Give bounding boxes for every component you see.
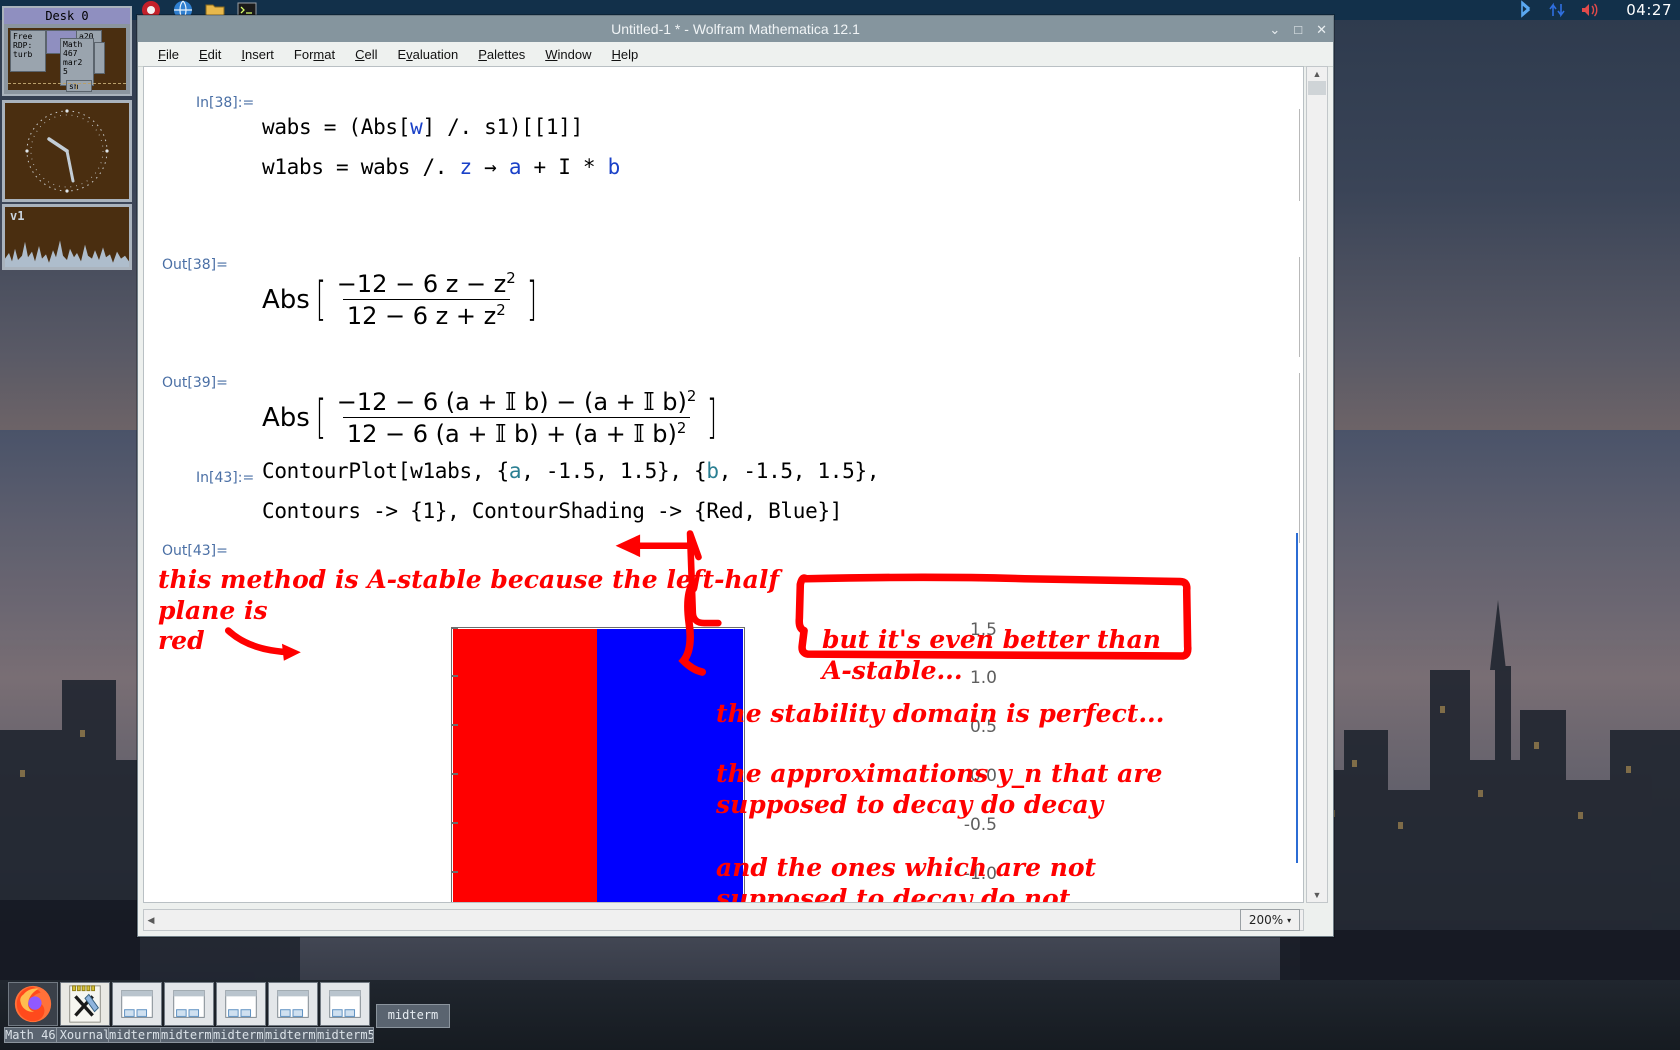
taskbar-item-midterm5[interactable]: midterm5 [316, 982, 374, 1048]
analog-clock-face [5, 103, 129, 199]
menu-insert[interactable]: Insert [231, 45, 284, 64]
ytick-mark [451, 773, 458, 775]
pager-title: Desk 0 [4, 8, 130, 24]
scroll-up-icon[interactable]: ▲ [1307, 67, 1327, 81]
scroll-left-icon[interactable]: ◀ [144, 910, 158, 930]
cell-bracket-out38[interactable] [1299, 257, 1300, 357]
code-line-wabs[interactable]: wabs = (Abs[w] /. s1)[[1]] [262, 115, 583, 139]
xournal-icon[interactable] [60, 982, 110, 1026]
taskbar-label[interactable]: midterm1 [212, 1027, 270, 1043]
chevron-down-icon[interactable]: ▾ [1287, 916, 1291, 925]
fraction-38: −12 − 6 z − z2 12 − 6 z + z2 [333, 269, 520, 330]
bluetooth-icon[interactable] [1514, 0, 1536, 20]
fraction-denominator-38: 12 − 6 z + z2 [343, 299, 510, 330]
menu-cell[interactable]: Cell [345, 45, 387, 64]
menu-edit[interactable]: Edit [189, 45, 231, 64]
abs-head-39: Abs [262, 403, 310, 433]
taskbar-label[interactable]: midterm5 [316, 1027, 374, 1043]
taskbar-active-window[interactable]: midterm [376, 1004, 450, 1028]
taskbar-label[interactable]: midterm3 [108, 1027, 166, 1043]
analog-clock-widget [2, 100, 132, 202]
ytick-mark [451, 822, 458, 824]
menu-bar[interactable]: File Edit Insert Format Cell Evaluation … [138, 42, 1333, 67]
cell-bracket-in38[interactable] [1299, 109, 1300, 201]
menu-file[interactable]: File [148, 45, 189, 64]
cell-bracket-in43[interactable] [1299, 455, 1300, 543]
annotation-perfect: the stability domain is perfect... [716, 699, 1164, 730]
abs-head-38: Abs [262, 285, 310, 315]
load-meter-widget: v1 [2, 204, 132, 270]
desktop-pager[interactable]: Desk 0 Free RDP: turb a20 Math 467 mar2 … [2, 6, 132, 96]
zoom-level-value: 200% [1249, 913, 1283, 927]
stable-region-red [453, 629, 599, 903]
fraction-numerator-39: −12 − 6 (a + 𝕀 b) − (a + 𝕀 b)2 [333, 387, 701, 417]
mini-window-edge[interactable] [94, 42, 105, 74]
annotation-left-note: this method is A-stable because the left… [158, 565, 838, 657]
window-icon[interactable] [164, 982, 214, 1026]
vertical-scrollbar[interactable]: ▲ ▼ [1306, 66, 1328, 903]
system-clock: 04:27 [1626, 1, 1672, 19]
menu-palettes[interactable]: Palettes [468, 45, 535, 64]
taskbar-item-midterm3[interactable]: midterm3 [108, 982, 166, 1048]
window-icon[interactable] [320, 982, 370, 1026]
window-icon[interactable] [112, 982, 162, 1026]
annotation-nodecay: and the ones which are not supposed to d… [716, 853, 1096, 903]
taskbar[interactable]: Math 467 Xournal midterm3 midte [0, 980, 1680, 1050]
taskbar-item-midterm1[interactable]: midterm1 [212, 982, 270, 1048]
taskbar-label[interactable]: Math 467 [4, 1027, 62, 1043]
plot-frame [451, 627, 745, 903]
zoom-level-field[interactable]: 200% ▾ [1240, 909, 1300, 931]
taskbar-label[interactable]: midterm2 [160, 1027, 218, 1043]
cell-label-in43: In[43]:= [196, 470, 254, 486]
network-updown-icon[interactable] [1546, 0, 1568, 20]
horizontal-scrollbar[interactable]: ◀ ▶ [143, 909, 1304, 931]
bracket-close-38: ] [527, 281, 537, 318]
window-title: Untitled-1 * - Wolfram Mathematica 12.1 [611, 21, 860, 37]
pager-divider-v [76, 84, 77, 90]
close-icon[interactable]: ✕ [1316, 23, 1327, 36]
bracket-open-39: [ [316, 399, 326, 436]
output-expression-38: Abs [ −12 − 6 z − z2 12 − 6 z + z2 ] [262, 269, 541, 330]
menu-window[interactable]: Window [535, 45, 601, 64]
meter-label: v1 [10, 209, 24, 223]
mini-window-sh[interactable]: sh [66, 80, 92, 92]
pager-desktop-0[interactable]: Free RDP: turb a20 Math 467 mar2 5 sh [8, 28, 126, 90]
contour-plot[interactable] [451, 627, 745, 903]
taskbar-item-firefox[interactable]: Math 467 [4, 982, 62, 1048]
taskbar-item-midterm4[interactable]: midterm4 [264, 982, 322, 1048]
notebook-canvas[interactable]: In[38]:= wabs = (Abs[w] /. s1)[[1]] w1ab… [143, 66, 1304, 903]
cell-label-out38: Out[38]= [162, 257, 228, 273]
minimize-icon[interactable]: ⌄ [1269, 23, 1280, 36]
firefox-icon[interactable] [8, 982, 58, 1026]
tray-status[interactable] [1514, 0, 1600, 20]
bracket-open-38: [ [316, 281, 326, 318]
window-icon[interactable] [268, 982, 318, 1026]
pager-divider [8, 83, 126, 84]
taskbar-label[interactable]: Xournal [56, 1027, 114, 1043]
taskbar-item-midterm2[interactable]: midterm2 [160, 982, 218, 1048]
output-expression-39: Abs [ −12 − 6 (a + 𝕀 b) − (a + 𝕀 b)2 12 … [262, 387, 721, 448]
volume-icon[interactable] [1578, 0, 1600, 20]
ytick-mark [451, 724, 458, 726]
mathematica-window[interactable]: Untitled-1 * - Wolfram Mathematica 12.1 … [137, 15, 1334, 937]
ytick-mark [451, 675, 458, 677]
window-icon[interactable] [216, 982, 266, 1026]
cell-bracket-out43[interactable] [1296, 533, 1298, 863]
fraction-denominator-39: 12 − 6 (a + 𝕀 b) + (a + 𝕀 b)2 [343, 417, 690, 448]
fraction-39: −12 − 6 (a + 𝕀 b) − (a + 𝕀 b)2 12 − 6 (a… [333, 387, 701, 448]
menu-evaluation[interactable]: Evaluation [388, 45, 469, 64]
taskbar-label[interactable]: midterm4 [264, 1027, 322, 1043]
mini-window-freerdp[interactable]: Free RDP: turb [10, 30, 46, 72]
bracket-close-39: ] [707, 399, 717, 436]
code-line-contourplot[interactable]: ContourPlot[w1abs, {a, -1.5, 1.5}, {b, -… [262, 459, 879, 483]
meter-graph [5, 225, 129, 267]
code-line-contours[interactable]: Contours -> {1}, ContourShading -> {Red,… [262, 499, 842, 523]
ytick-mark [451, 871, 458, 873]
cell-label-out39: Out[39]= [162, 375, 228, 391]
window-titlebar[interactable]: Untitled-1 * - Wolfram Mathematica 12.1 … [138, 16, 1333, 42]
maximize-icon[interactable]: □ [1294, 23, 1302, 36]
annotation-boxed-note: but it's even better than A-stable... [822, 625, 1161, 686]
scroll-down-icon[interactable]: ▼ [1307, 888, 1327, 902]
menu-format[interactable]: Format [284, 45, 345, 64]
annotation-decay: the approximations y_n that are supposed… [716, 759, 1162, 820]
fraction-numerator-38: −12 − 6 z − z2 [333, 269, 520, 299]
vertical-scroll-thumb[interactable] [1308, 81, 1326, 95]
mini-window-math467[interactable]: Math 467 mar2 5 [60, 38, 94, 86]
code-line-w1abs[interactable]: w1abs = wabs /. z → a + I * b [262, 155, 620, 179]
cell-label-out43: Out[43]= [162, 543, 228, 559]
taskbar-item-xournal[interactable]: Xournal [56, 982, 114, 1048]
menu-help[interactable]: Help [601, 45, 648, 64]
cell-label-in38: In[38]:= [196, 95, 254, 111]
